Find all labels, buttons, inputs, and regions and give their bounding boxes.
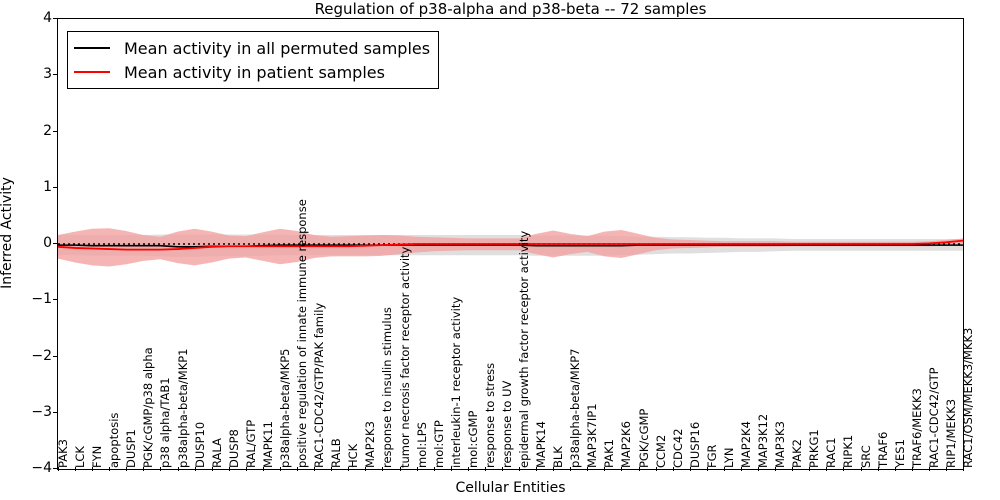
x-tick-label: MAP3K7IP1 — [587, 403, 599, 471]
x-tick-label: FGR — [707, 444, 719, 471]
x-tick-label: response to UV — [502, 381, 514, 471]
x-tick-label: mol:GTP — [434, 420, 446, 471]
x-tick-label: p38alpha-beta/MKP7 — [570, 349, 582, 471]
x-tick-label: response to insulin stimulus — [382, 307, 394, 471]
x-tick-label: TRAF6/MEKK3 — [912, 388, 924, 471]
y-tick-label: 2 — [26, 124, 52, 138]
x-tick-label: RIPK1 — [843, 435, 855, 471]
x-axis-label: Cellular Entities — [57, 480, 964, 496]
y-tick-label: −4 — [26, 461, 52, 475]
x-tick-label: PRKG1 — [809, 429, 821, 471]
y-tick-label: −3 — [26, 405, 52, 419]
x-tick-label: TRAF6 — [878, 432, 890, 471]
x-tick-label: p38 alpha/TAB1 — [160, 377, 172, 471]
legend-label-patient: Mean activity in patient samples — [124, 63, 385, 82]
x-tick-label: response to stress — [485, 363, 497, 471]
x-tick-label: BLK — [553, 446, 565, 471]
legend-swatch-permuted — [74, 47, 110, 49]
legend-item: Mean activity in all permuted samples — [74, 36, 430, 60]
y-tick-label: 4 — [26, 11, 52, 25]
x-tick-label: apoptosis — [109, 413, 121, 471]
x-tick-label: LYN — [724, 447, 736, 471]
x-tick-label: LCK — [75, 446, 87, 471]
x-tick-label: RAL/GTP — [246, 420, 258, 471]
chart-title: Regulation of p38-alpha and p38-beta -- … — [57, 0, 964, 18]
x-tick-label: DUSP16 — [690, 422, 702, 471]
y-tick-label: −1 — [26, 292, 52, 306]
x-tick-label: CDC42 — [673, 428, 685, 471]
x-tick-label: MAPK11 — [263, 421, 275, 471]
y-axis-label: Inferred Activity — [0, 23, 15, 443]
x-tick-label: epidermal growth factor receptor activit… — [519, 231, 531, 471]
x-tick-label: CCM2 — [656, 435, 668, 471]
x-tick-label: RALB — [331, 438, 343, 471]
y-tick-label: 3 — [26, 67, 52, 81]
x-tick-label: tumor necrosis factor receptor activity — [400, 247, 412, 471]
y-tick-label: 0 — [26, 236, 52, 250]
x-tick-label: p38alpha-beta/MKP5 — [280, 349, 292, 471]
legend-item: Mean activity in patient samples — [74, 60, 430, 84]
x-tick-label: MAP3K12 — [758, 414, 770, 471]
x-tick-label: DUSP1 — [126, 429, 138, 471]
y-tick-label: −2 — [26, 349, 52, 363]
legend-swatch-patient — [74, 71, 110, 73]
x-tick-label: p38alpha-beta/MKP1 — [178, 349, 190, 471]
x-tick-label: RAC1/OSM/MEKK3/MKK3 — [963, 328, 975, 471]
x-tick-label: MAP2K3 — [365, 421, 377, 471]
x-tick-label: mol:LPS — [417, 422, 429, 471]
x-tick-label: mol:cGMP — [468, 411, 480, 471]
x-tick-label: MAPK14 — [536, 421, 548, 471]
x-tick-label: PAK2 — [792, 439, 804, 471]
chart-root: Regulation of p38-alpha and p38-beta -- … — [0, 0, 1000, 500]
x-tick-label: SRC — [861, 445, 873, 471]
x-tick-label: DUSP8 — [229, 429, 241, 471]
x-tick-label: PAK3 — [58, 439, 70, 471]
x-tick-label: RAC1-CDC42/GTP — [929, 367, 941, 471]
x-tick-label: MAP3K3 — [775, 421, 787, 471]
legend-label-permuted: Mean activity in all permuted samples — [124, 39, 430, 58]
x-tick-label: YES1 — [895, 439, 907, 471]
x-tick-label: positive regulation of innate immune res… — [297, 199, 309, 471]
x-tick-label: HCK — [348, 444, 360, 471]
x-tick-label: RAC1-CDC42/GTP/PAK family — [314, 303, 326, 471]
x-tick-label: PGK/cGMP — [639, 409, 651, 471]
x-tick-label: FYN — [92, 446, 104, 471]
x-tick-label: DUSP10 — [195, 422, 207, 471]
chart-legend: Mean activity in all permuted samples Me… — [67, 31, 439, 89]
x-tick-label: RAC1 — [826, 437, 838, 471]
x-tick-label: RIP1/MEKK3 — [946, 399, 958, 471]
x-tick-label: PAK1 — [604, 439, 616, 471]
x-tick-label: MAP2K4 — [741, 421, 753, 471]
y-tick-label: 1 — [26, 180, 52, 194]
x-tick-label: interleukin-1 receptor activity — [451, 297, 463, 471]
x-tick-label: RALA — [212, 438, 224, 471]
x-tick-label: MAP2K6 — [621, 421, 633, 471]
x-tick-label: PGK/cGMP/p38 alpha — [143, 347, 155, 471]
